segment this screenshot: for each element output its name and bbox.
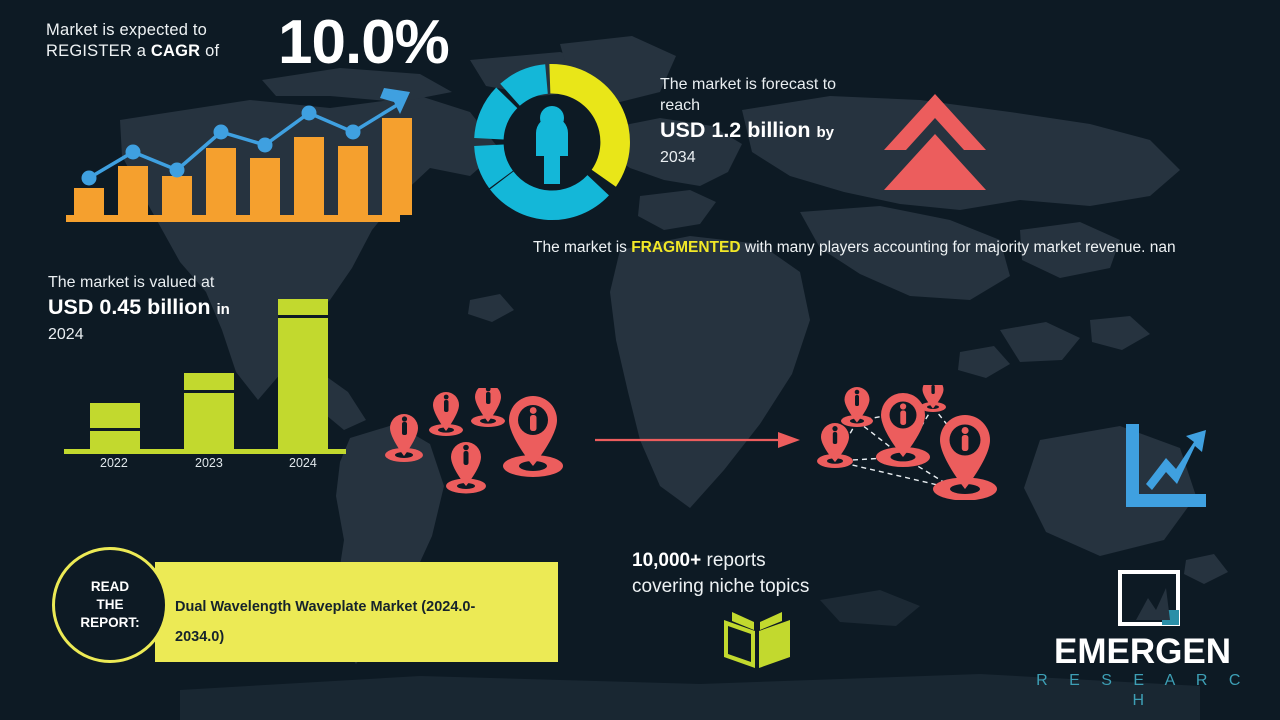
bar-2022-divider [90, 428, 140, 431]
map-pins-cluster-left [378, 388, 588, 498]
fragmentation-pre: The market is [533, 239, 631, 256]
reports-count-line2: covering niche topics [632, 574, 932, 600]
bar-2024 [278, 299, 328, 449]
logo-subtitle: R E S E A R C H [1030, 671, 1255, 711]
cagr-value: 10.0% [278, 12, 449, 74]
green-chart-tick-2022: 2022 [100, 456, 128, 470]
infographic-canvas: Market is expected to REGISTER a CAGR of… [0, 0, 1280, 720]
cagr-caption-line2-post: of [200, 42, 219, 60]
fragmentation-statement: The market is FRAGMENTED with many playe… [533, 236, 1205, 259]
read-report-cta: READ THE REPORT: [80, 578, 139, 632]
map-pin-icon [385, 414, 423, 462]
market-share-donut-chart [462, 52, 642, 232]
reports-count-line1: 10,000+ reports [632, 548, 932, 574]
market-value-bar-chart [60, 285, 350, 475]
forecast-value: USD 1.2 billion by [660, 116, 885, 147]
map-pin-icon [920, 385, 946, 412]
open-book-icon [718, 608, 796, 670]
read-report-cta-line1: READ [80, 578, 139, 596]
flow-arrow-icon [595, 428, 800, 452]
cagr-keyword: CAGR [151, 42, 200, 60]
cagr-block: Market is expected to REGISTER a CAGR of… [46, 20, 466, 62]
reports-count-label: reports [701, 550, 765, 571]
forecast-value-text: USD 1.2 billion [660, 118, 811, 142]
growth-bar-trend-chart [62, 80, 422, 225]
green-bars [90, 299, 328, 449]
map-pin-icon [446, 442, 486, 494]
map-pin-icon [503, 396, 563, 477]
map-pin-icon [876, 393, 930, 467]
reports-count-block: 10,000+ reports covering niche topics [632, 548, 932, 600]
forecast-block: The market is forecast to reach USD 1.2 … [660, 74, 885, 168]
emergen-research-logo: EMERGEN R E S E A R C H [1030, 570, 1255, 700]
read-report-badge[interactable]: READ THE REPORT: [52, 547, 168, 663]
reports-count-number: 10,000+ [632, 550, 701, 571]
map-pin-icon [933, 415, 997, 500]
green-chart-tick-2024: 2024 [289, 456, 317, 470]
bar-2022 [90, 403, 140, 449]
cagr-caption-line2-pre: REGISTER a [46, 42, 151, 60]
read-report-cta-line2: THE [80, 596, 139, 614]
bar-2023-divider [184, 390, 234, 393]
fragmentation-post: with many players accounting for majorit… [741, 239, 1176, 256]
read-report-cta-line3: REPORT: [80, 614, 139, 632]
report-title: Dual Wavelength Waveplate Market (2024.0… [175, 592, 505, 652]
map-pin-icon [429, 392, 463, 436]
chart-baseline [66, 215, 400, 222]
orange-bars [74, 118, 412, 215]
forecast-caption-line2: reach [660, 95, 885, 116]
map-pins-network-right [805, 385, 1020, 500]
green-chart-tick-2023: 2023 [195, 456, 223, 470]
trend-arrow-icon [1146, 430, 1206, 490]
bar-2023 [184, 373, 234, 449]
map-pin-icon [471, 388, 505, 427]
growth-chart-icon [1118, 420, 1210, 512]
map-pin-icon [817, 423, 853, 468]
logo-wordmark: EMERGEN [1030, 632, 1255, 672]
read-report-banner[interactable]: Dual Wavelength Waveplate Market (2024.0… [155, 562, 558, 662]
forecast-caption-line1: The market is forecast to [660, 74, 885, 95]
map-pin-icon [841, 387, 873, 427]
forecast-value-suffix: by [817, 124, 835, 141]
trend-arrowhead [380, 88, 410, 114]
logo-mark-icon [1118, 570, 1180, 632]
upward-chevrons-icon [880, 92, 990, 192]
person-icon [536, 106, 568, 184]
bar-2024-divider [278, 315, 328, 318]
green-baseline [64, 449, 346, 454]
forecast-year: 2034 [660, 147, 885, 168]
fragmentation-keyword: FRAGMENTED [631, 239, 740, 256]
